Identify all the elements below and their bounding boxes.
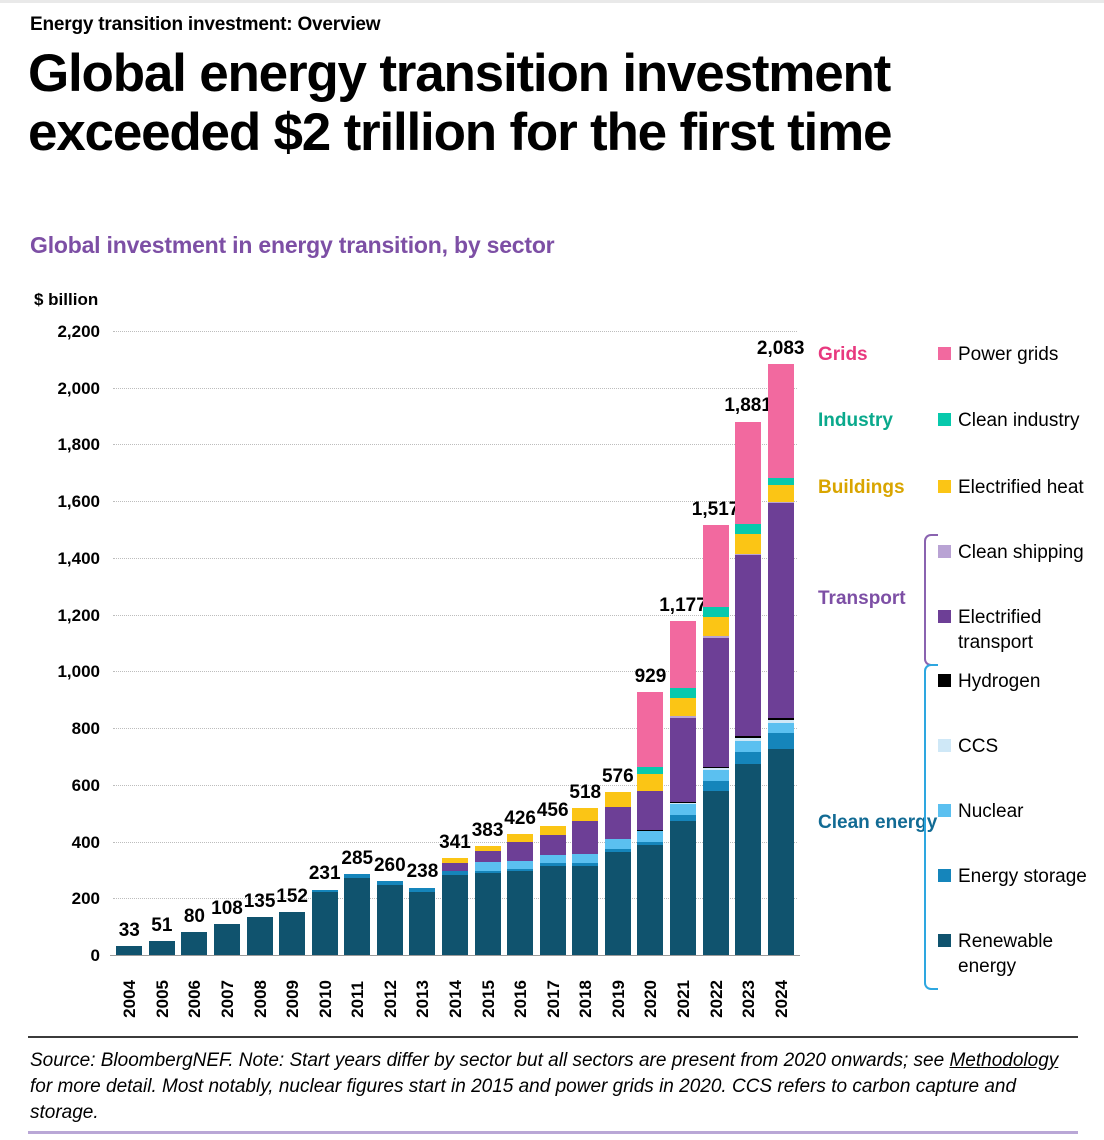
gridline	[113, 558, 797, 560]
bar-segment	[735, 741, 761, 752]
bar-segment	[735, 555, 761, 735]
y-axis-tick: 400	[12, 833, 100, 853]
bar-2015[interactable]	[475, 846, 501, 955]
bar-segment	[768, 478, 794, 485]
bar-segment	[279, 912, 305, 955]
legend-item-label: Clean shipping	[958, 540, 1084, 565]
legend-item-label: Power grids	[958, 342, 1058, 367]
legend-group-label: Transport	[818, 588, 906, 610]
bar-segment	[181, 932, 207, 955]
gridline	[113, 444, 797, 446]
kicker-text: Energy transition investment: Overview	[30, 14, 380, 36]
legend-group-label: Clean energy	[818, 812, 937, 834]
legend-swatch-icon	[938, 545, 951, 558]
bar-segment	[735, 764, 761, 955]
x-axis-tick: 2006	[185, 980, 205, 1018]
bar-segment	[735, 534, 761, 554]
methodology-link[interactable]: Methodology	[949, 1050, 1058, 1071]
bar-segment	[637, 774, 663, 790]
bar-segment	[768, 503, 794, 718]
bar-segment	[475, 862, 501, 871]
x-axis-tick: 2005	[153, 980, 173, 1018]
legend-item-label: Energy storage	[958, 864, 1087, 889]
y-axis-tick: 1,200	[12, 606, 100, 626]
bar-segment	[507, 871, 533, 955]
x-axis-tick: 2018	[576, 980, 596, 1018]
chart-legend: Power gridsClean industryElectrified hea…	[806, 330, 1096, 1010]
x-axis-tick: 2008	[251, 980, 271, 1018]
bar-segment	[475, 873, 501, 955]
bar-2006[interactable]	[181, 932, 207, 955]
x-axis-tick: 2013	[413, 980, 433, 1018]
bar-segment	[670, 621, 696, 688]
bar-value-label: 2,083	[751, 338, 811, 360]
gridline	[113, 331, 797, 333]
bar-2009[interactable]	[279, 912, 305, 955]
source-note: Source: BloombergNEF. Note: Start years …	[30, 1048, 1076, 1127]
bar-2019[interactable]	[605, 792, 631, 955]
bar-segment	[507, 834, 533, 842]
y-axis-labels: 02004006008001,0001,2001,4001,6001,8002,…	[0, 331, 100, 955]
footer-rule	[28, 1036, 1078, 1038]
x-axis-tick: 2012	[381, 980, 401, 1018]
bar-segment	[605, 839, 631, 849]
legend-swatch-icon	[938, 739, 951, 752]
y-axis-tick: 0	[12, 946, 100, 966]
bottom-rule	[28, 1131, 1078, 1134]
bar-segment	[703, 781, 729, 791]
legend-item[interactable]: Clean industry	[938, 408, 1093, 433]
legend-swatch-icon	[938, 804, 951, 817]
y-axis-tick: 1,800	[12, 435, 100, 455]
bar-segment	[670, 698, 696, 716]
bar-segment	[540, 866, 566, 955]
bar-segment	[507, 842, 533, 860]
bar-segment	[116, 946, 142, 955]
legend-item[interactable]: Hydrogen	[938, 669, 1093, 694]
bar-segment	[670, 688, 696, 697]
legend-group-label: Buildings	[818, 477, 905, 499]
bar-2012[interactable]	[377, 881, 403, 955]
bar-2024[interactable]	[768, 364, 794, 955]
bar-segment	[507, 861, 533, 870]
y-axis-tick: 200	[12, 889, 100, 909]
legend-item-label: Nuclear	[958, 799, 1023, 824]
y-axis-tick: 1,400	[12, 549, 100, 569]
bar-2014[interactable]	[442, 858, 468, 955]
bar-segment	[572, 821, 598, 854]
bar-segment	[247, 917, 273, 955]
chart-subtitle: Global investment in energy transition, …	[30, 232, 554, 259]
x-axis-tick: 2020	[641, 980, 661, 1018]
bar-segment	[768, 723, 794, 733]
y-axis-unit-label: $ billion	[34, 290, 98, 310]
bar-segment	[703, 607, 729, 617]
x-axis-tick: 2022	[707, 980, 727, 1018]
legend-group-label: Grids	[818, 344, 868, 366]
bar-2007[interactable]	[214, 924, 240, 955]
bar-segment	[475, 851, 501, 862]
x-axis-tick: 2021	[674, 980, 694, 1018]
page-title: Global energy transition investment exce…	[28, 44, 1078, 163]
x-axis-tick: 2017	[544, 980, 564, 1018]
bar-segment	[670, 815, 696, 822]
x-axis-tick: 2024	[772, 980, 792, 1018]
legend-item[interactable]: Electrified heat	[938, 475, 1093, 500]
bar-segment	[703, 638, 729, 767]
bar-2016[interactable]	[507, 834, 533, 955]
bar-segment	[605, 852, 631, 955]
bar-segment	[637, 692, 663, 767]
legend-item[interactable]: Nuclear	[938, 799, 1093, 824]
legend-item-label: Electrified heat	[958, 475, 1084, 500]
bar-segment	[768, 733, 794, 748]
bar-2004[interactable]	[116, 946, 142, 955]
bar-2013[interactable]	[409, 888, 435, 955]
bar-segment	[670, 821, 696, 955]
x-axis-tick: 2011	[348, 981, 368, 1018]
legend-item[interactable]: Power grids	[938, 342, 1093, 367]
bar-segment	[572, 808, 598, 820]
bar-segment	[768, 364, 794, 478]
bar-segment	[377, 885, 403, 955]
bar-segment	[572, 866, 598, 955]
x-axis-tick: 2010	[316, 980, 336, 1018]
x-axis-tick: 2014	[446, 980, 466, 1018]
bar-2008[interactable]	[247, 917, 273, 955]
bar-2022[interactable]	[703, 525, 729, 955]
x-axis-tick: 2023	[739, 980, 759, 1018]
transport-bracket-icon	[924, 534, 938, 666]
bar-segment	[670, 804, 696, 814]
chart-page: Energy transition investment: Overview G…	[0, 0, 1104, 1140]
legend-swatch-icon	[938, 869, 951, 882]
bar-2020[interactable]	[637, 692, 663, 955]
clean-energy-bracket-icon	[924, 664, 938, 990]
legend-item-label: Clean industry	[958, 408, 1079, 433]
x-axis-labels: 2004200520062007200820092010201120122013…	[113, 960, 803, 1018]
legend-swatch-icon	[938, 610, 951, 623]
bar-segment	[670, 718, 696, 803]
bar-segment	[572, 854, 598, 863]
bar-2018[interactable]	[572, 808, 598, 955]
bar-segment	[703, 770, 729, 781]
bar-segment	[409, 892, 435, 955]
source-text-1: Source: BloombergNEF. Note: Start years …	[30, 1050, 949, 1071]
legend-item-label: CCS	[958, 734, 998, 759]
bar-segment	[637, 767, 663, 775]
y-axis-tick: 800	[12, 719, 100, 739]
axis-baseline	[110, 955, 800, 956]
bar-2011[interactable]	[344, 874, 370, 955]
bar-segment	[703, 791, 729, 955]
bar-segment	[540, 835, 566, 855]
bar-segment	[735, 422, 761, 525]
x-axis-tick: 2015	[479, 980, 499, 1018]
x-axis-tick: 2016	[511, 980, 531, 1018]
legend-item[interactable]: Renewable energy	[938, 929, 1093, 979]
legend-item-label: Electrified transport	[958, 605, 1093, 655]
x-axis-tick: 2004	[120, 980, 140, 1018]
bar-segment	[637, 845, 663, 955]
legend-swatch-icon	[938, 347, 951, 360]
legend-item[interactable]: Electrified transport	[938, 605, 1093, 655]
bar-2023[interactable]	[735, 422, 761, 955]
legend-swatch-icon	[938, 413, 951, 426]
y-axis-tick: 2,000	[12, 379, 100, 399]
legend-swatch-icon	[938, 934, 951, 947]
legend-swatch-icon	[938, 674, 951, 687]
bar-segment	[637, 791, 663, 830]
bar-segment	[149, 941, 175, 955]
bar-2010[interactable]	[312, 890, 338, 956]
top-rule	[0, 0, 1104, 3]
legend-swatch-icon	[938, 480, 951, 493]
x-axis-tick: 2009	[283, 980, 303, 1018]
bar-segment	[605, 807, 631, 839]
bar-segment	[540, 855, 566, 863]
bar-segment	[214, 924, 240, 955]
y-axis-tick: 600	[12, 776, 100, 796]
gridline	[113, 388, 797, 390]
bar-segment	[637, 831, 663, 842]
x-axis-tick: 2019	[609, 980, 629, 1018]
bar-segment	[768, 485, 794, 502]
bar-segment	[442, 875, 468, 955]
bar-segment	[312, 892, 338, 955]
y-axis-tick: 1,000	[12, 662, 100, 682]
bar-segment	[768, 749, 794, 955]
legend-item[interactable]: Clean shipping	[938, 540, 1093, 565]
legend-item-label: Hydrogen	[958, 669, 1040, 694]
y-axis-tick: 1,600	[12, 492, 100, 512]
legend-item[interactable]: CCS	[938, 734, 1093, 759]
bar-2021[interactable]	[670, 621, 696, 955]
bar-segment	[735, 524, 761, 534]
bar-segment	[703, 525, 729, 607]
y-axis-tick: 2,200	[12, 322, 100, 342]
bar-segment	[605, 792, 631, 807]
bar-segment	[540, 826, 566, 835]
source-text-2: for more detail. Most notably, nuclear f…	[30, 1076, 1016, 1123]
bar-2005[interactable]	[149, 941, 175, 955]
x-axis-tick: 2007	[218, 980, 238, 1018]
bar-segment	[703, 617, 729, 636]
legend-item-label: Renewable energy	[958, 929, 1093, 979]
legend-item[interactable]: Energy storage	[938, 864, 1093, 889]
bar-segment	[344, 878, 370, 955]
bar-segment	[735, 752, 761, 764]
plot-area: 3351801081351522312852602383413834264565…	[113, 331, 797, 955]
bar-2017[interactable]	[540, 826, 566, 955]
legend-group-label: Industry	[818, 410, 893, 432]
bar-segment	[442, 863, 468, 870]
